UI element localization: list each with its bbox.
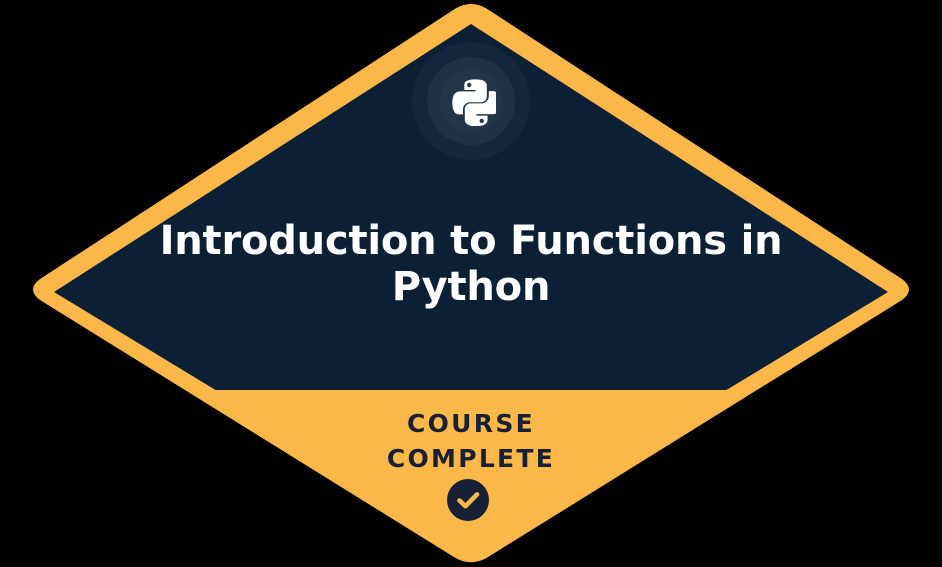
status-line-complete: COMPLETE bbox=[171, 441, 771, 476]
course-title: Introduction to Functions in Python bbox=[120, 218, 822, 310]
check-circle-icon bbox=[447, 479, 489, 521]
status-line-course: COURSE bbox=[171, 406, 771, 441]
completion-status: COURSE COMPLETE bbox=[171, 406, 771, 476]
python-logo-icon bbox=[446, 76, 496, 126]
course-completion-badge: Introduction to Functions in Python COUR… bbox=[0, 0, 942, 567]
